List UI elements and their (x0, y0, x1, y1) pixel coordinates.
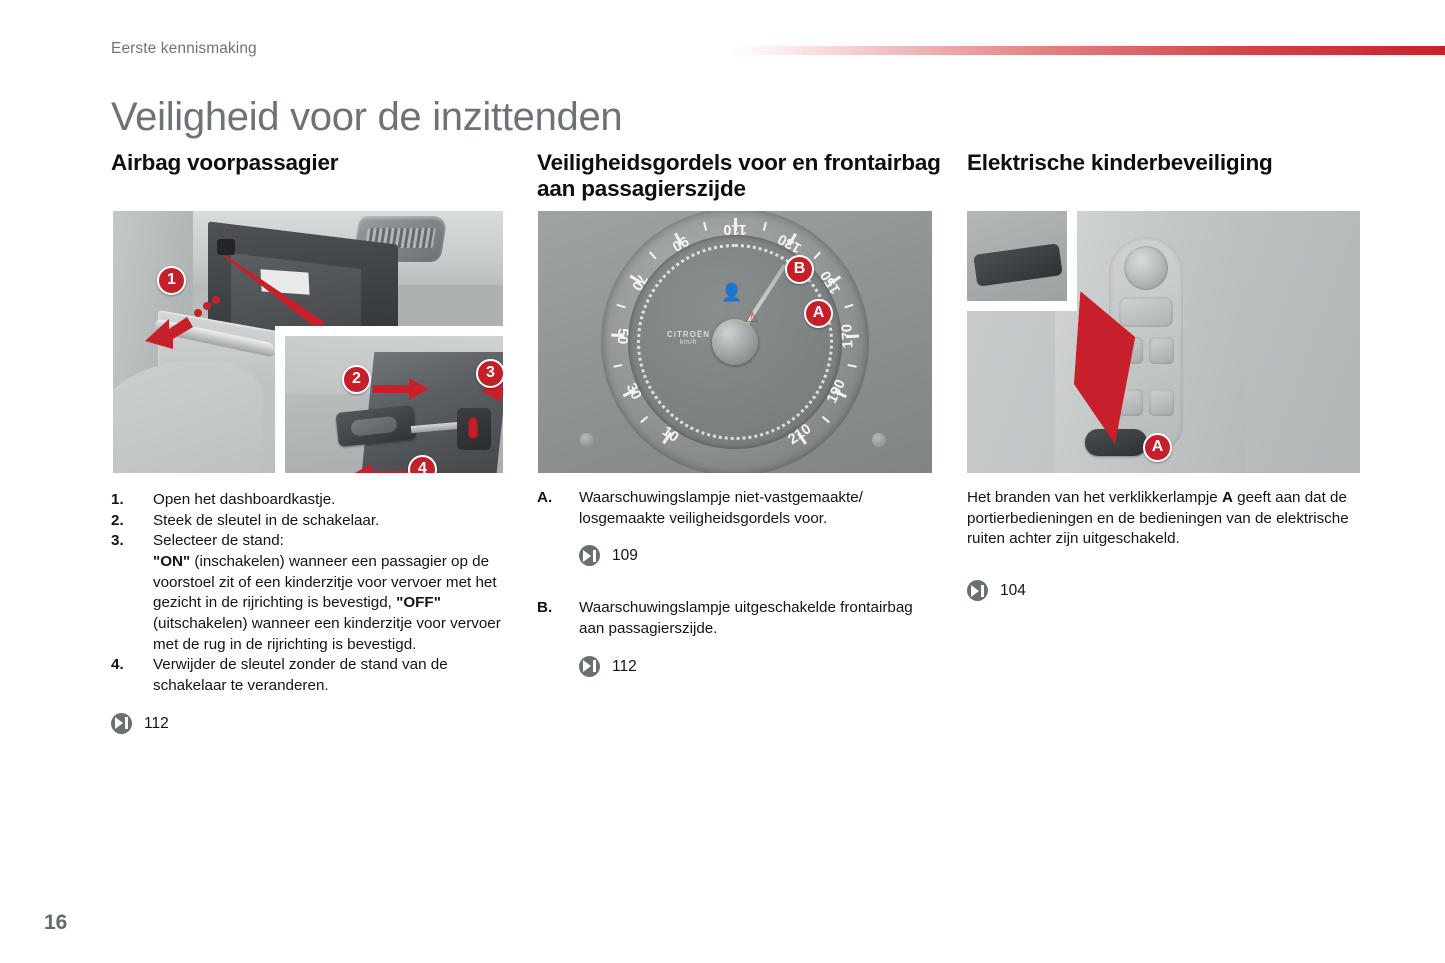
list-item: 2. Steek de sleutel in de schakelaar. (111, 511, 511, 532)
mirror-select-switch (1119, 297, 1173, 327)
step-marker: 1. (111, 490, 124, 511)
step-3-detail: "ON" (inschakelen) wanneer een passagier… (153, 552, 511, 655)
body-column-airbag: 1. Open het dashboardkastje. 2. Steek de… (111, 490, 511, 734)
list-item: A. Waarschuwingslampje niet-vastgemaakte… (537, 488, 937, 566)
list-item: 4. Verwijder de sleutel zonder de stand … (111, 655, 511, 696)
window-switch-rear-right (1149, 389, 1174, 416)
airbag-switch (457, 408, 491, 450)
callout-badge-1: 1 (157, 266, 186, 295)
off-label: "OFF" (396, 594, 441, 611)
callout-badge-2: 2 (342, 365, 371, 394)
passenger-seat (113, 361, 263, 473)
gauge-tick-label: 110 (723, 221, 746, 237)
seatbelt-warning-telltale-icon: 👤 (721, 284, 742, 301)
step-text: Open het dashboardkastje. (153, 491, 335, 508)
glovebox-inset-frame: 2 3 4 (275, 326, 503, 473)
child-lock-button-closeup (973, 243, 1063, 287)
skip-next-icon (111, 713, 132, 734)
step-marker: 4. (111, 655, 124, 676)
callout-badge-A: A (804, 299, 833, 328)
page-title: Veiligheid voor de inzittenden (111, 95, 622, 140)
item-text: Waarschuwingslampje niet-vastgemaakte/ l… (579, 489, 863, 527)
gauge-brand-label: CITROËN km/h (667, 330, 710, 346)
step-text: Selecteer de stand: (153, 532, 284, 549)
unit-text: km/h (667, 339, 710, 346)
skip-next-icon (579, 545, 600, 566)
callout-badge-3: 3 (476, 359, 503, 388)
figure-glovebox-airbag-switch: 1 (113, 211, 503, 473)
callout-badge-A-door: A (1143, 433, 1172, 462)
page-reference: 112 (579, 656, 937, 677)
figure-door-panel-switches: A (967, 211, 1360, 473)
running-head: Eerste kennismaking (111, 40, 257, 58)
header-rule-decoration (730, 46, 1445, 55)
arrow-insert-key-icon (373, 378, 429, 400)
on-label: "ON" (153, 553, 190, 570)
callout-badge-B: B (785, 255, 814, 284)
body-column-child-lock: Het branden van het verklikkerlampje A g… (967, 488, 1367, 601)
page-reference: 104 (967, 580, 1367, 601)
figure-speedometer: CITROËN km/h 👤 ⚠ B A 1030507090110130150… (538, 211, 932, 473)
section-title-kinderbeveiliging: Elektrische kinderbeveiliging (967, 150, 1397, 176)
list-item: 3. Selecteer de stand: "ON" (inschakelen… (111, 531, 511, 655)
step-marker: 2. (111, 511, 124, 532)
step-text: Verwijder de sleutel zonder de stand van… (153, 656, 448, 694)
paragraph-before: Het branden van het verklikkerlampje (967, 489, 1222, 506)
gauge-tick-label: 170 (839, 324, 856, 349)
airbag-switch-location (217, 239, 235, 255)
page-reference: 112 (111, 713, 511, 734)
numbered-steps-list: 1. Open het dashboardkastje. 2. Steek de… (111, 490, 511, 697)
page-number: 16 (44, 911, 67, 935)
brand-text: CITROËN (667, 330, 710, 339)
step-marker: 3. (111, 531, 124, 552)
reference-page-number: 112 (144, 713, 169, 734)
item-text: Waarschuwingslampje uitgeschakelde front… (579, 599, 913, 637)
gauge-screw-right (872, 433, 886, 447)
reference-page-number: 109 (612, 545, 638, 566)
item-marker: A. (537, 488, 552, 509)
child-lock-closeup (967, 211, 1067, 301)
on-text: (inschakelen) wanneer een passagier op d… (153, 553, 497, 611)
item-marker: B. (537, 598, 552, 619)
mirror-adjust-knob (1124, 246, 1168, 290)
reference-page-number: 112 (612, 656, 637, 677)
section-title-airbag-voorpassagier: Airbag voorpassagier (111, 150, 511, 176)
glovebox-label-sticker (260, 269, 309, 294)
section-title-veiligheidsgordels: Veiligheidsgordels voor en frontairbag a… (537, 150, 947, 203)
page-reference: 109 (579, 545, 937, 566)
child-lock-paragraph: Het branden van het verklikkerlampje A g… (967, 488, 1367, 550)
airbag-off-telltale-icon: ⚠ (745, 310, 758, 325)
child-lock-inset-frame (967, 211, 1077, 311)
reference-page-number: 104 (1000, 580, 1026, 601)
off-text: (uitschakelen) wanneer een kinderzitje v… (153, 615, 501, 653)
window-switch-front-right (1149, 337, 1174, 364)
arrow-remove-key-icon (351, 464, 409, 473)
skip-next-icon (967, 580, 988, 601)
list-item: B. Waarschuwingslampje uitgeschakelde fr… (537, 598, 937, 676)
gauge-screw-left (580, 433, 594, 447)
airbag-switch-closeup (285, 336, 503, 473)
step-text: Steek de sleutel in de schakelaar. (153, 512, 379, 529)
skip-next-icon (579, 656, 600, 677)
arrow-open-glovebox-icon (143, 289, 221, 351)
lettered-items-list: A. Waarschuwingslampje niet-vastgemaakte… (537, 488, 937, 677)
paragraph-bold-letter: A (1222, 489, 1233, 506)
gauge-tick-label: 50 (614, 328, 631, 345)
body-column-seatbelts: A. Waarschuwingslampje niet-vastgemaakte… (537, 488, 937, 677)
list-item: 1. Open het dashboardkastje. (111, 490, 511, 511)
